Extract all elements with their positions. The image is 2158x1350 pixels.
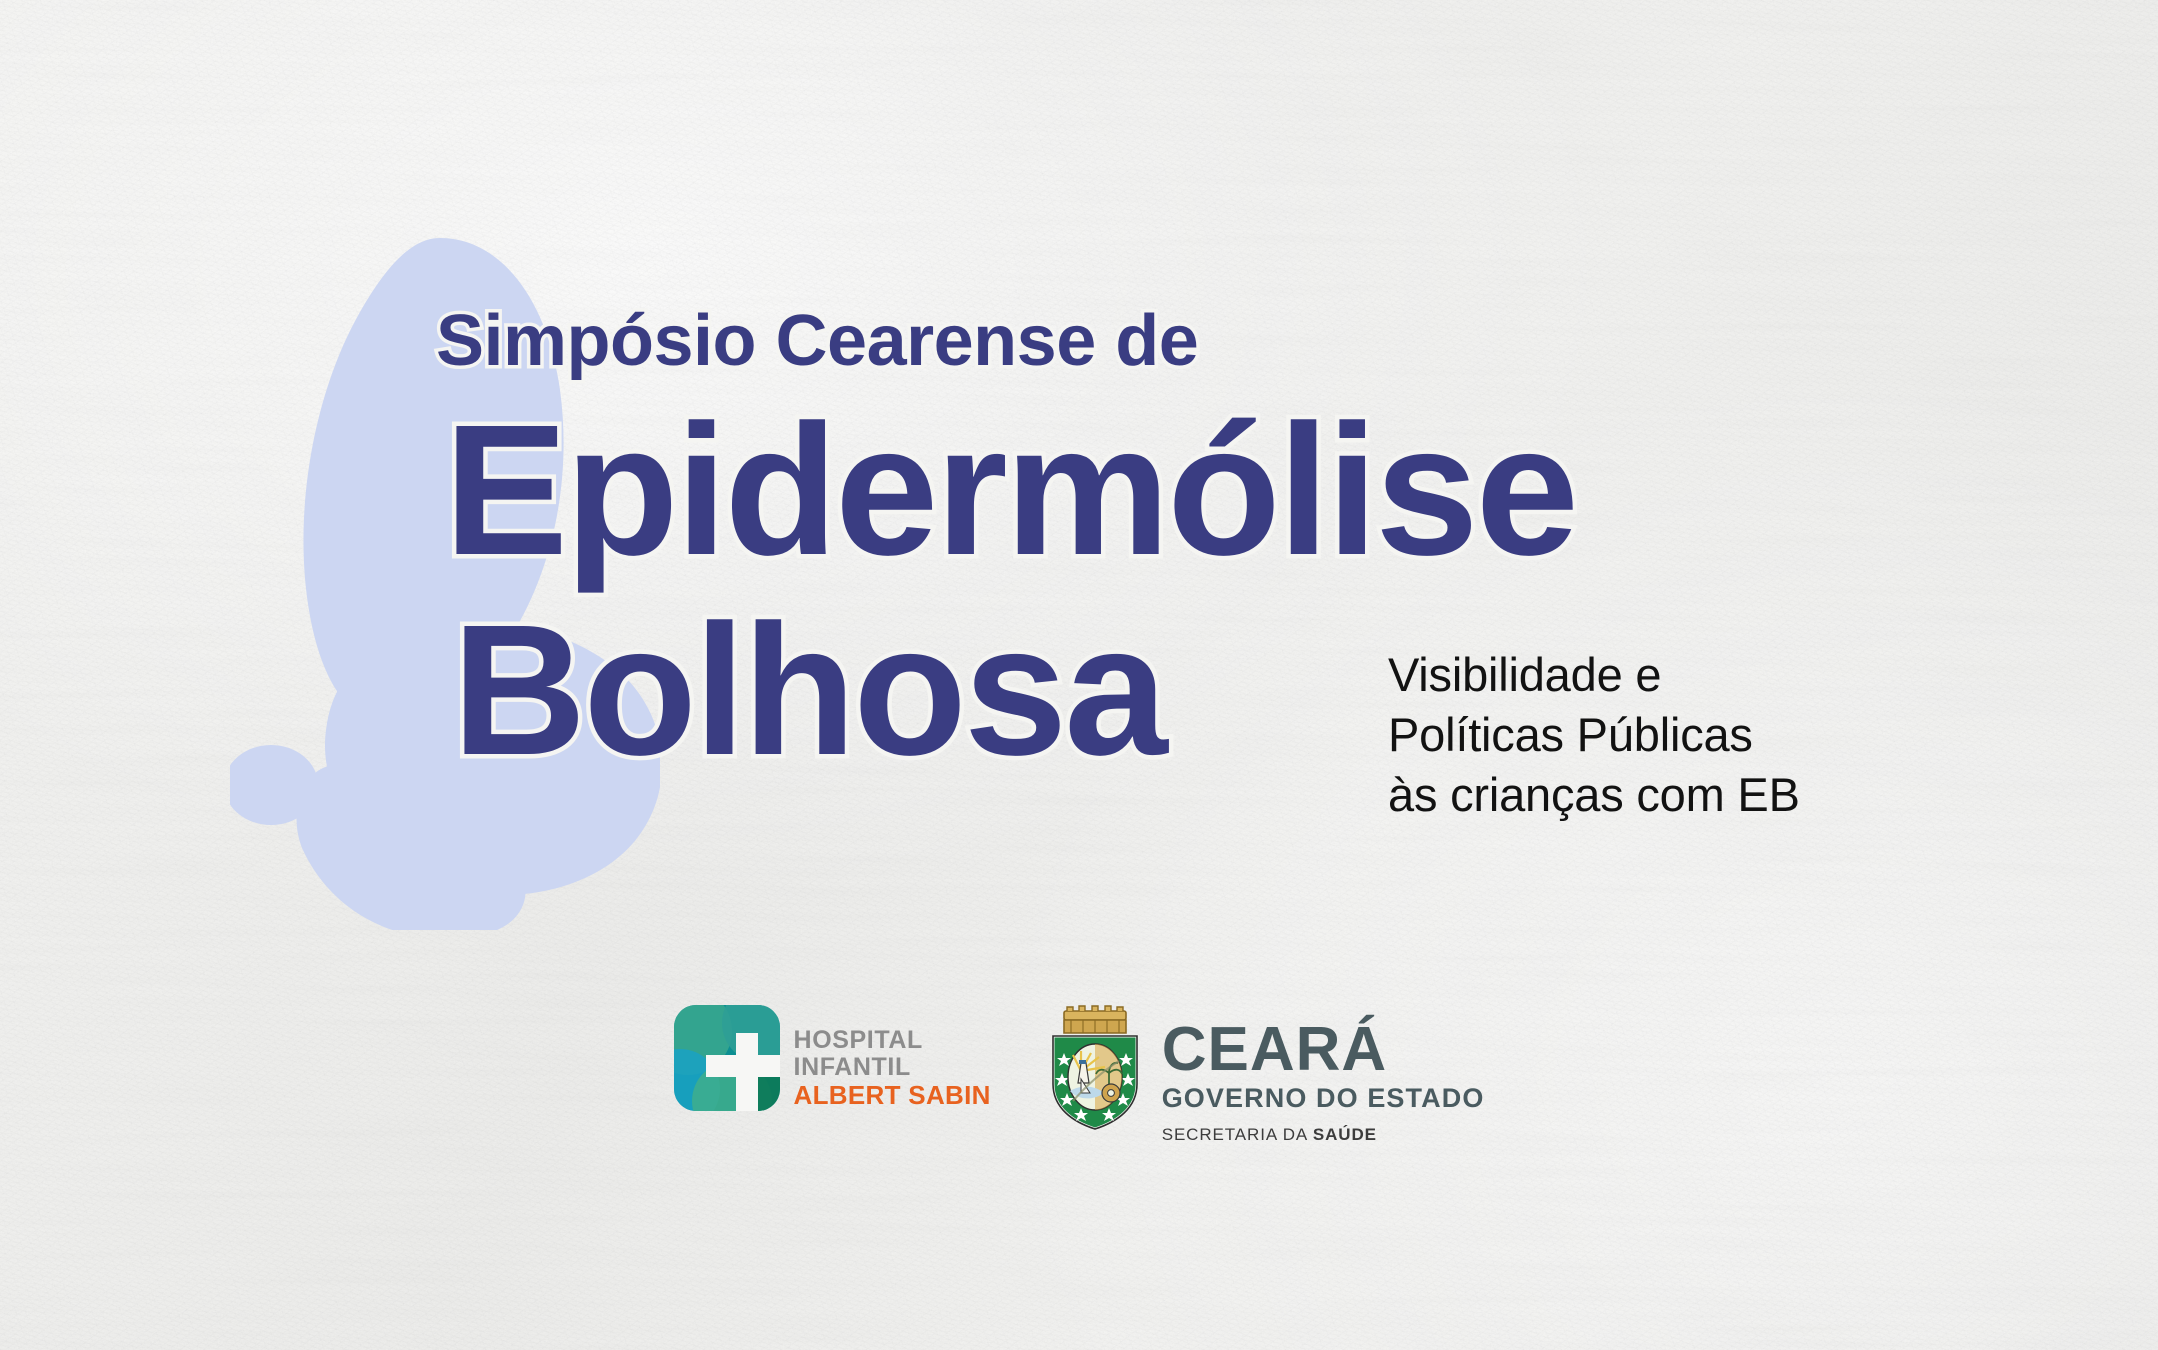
ceara-line-2: GOVERNO DO ESTADO [1162,1078,1485,1119]
hias-line-2: INFANTIL [794,1054,991,1081]
ceara-line-3-prefix: SECRETARIA DA [1162,1125,1313,1144]
ceara-line-1: CEARÁ [1162,1021,1485,1078]
logo-ceara-governo-do-estado: CEARÁ GOVERNO DO ESTADO SECRETARIA DA SA… [1043,1005,1485,1151]
teal-cross-icon [674,1005,780,1111]
ceara-line-3: SECRETARIA DA SAÚDE [1162,1119,1485,1151]
hias-line-1: HOSPITAL [794,1027,991,1054]
logo-strip: HOSPITAL INFANTIL ALBERT SABIN [0,1005,2158,1151]
poster-canvas: Simpósio Cearense de Epidermólise Bolhos… [0,0,2158,1350]
hias-wordmark: HOSPITAL INFANTIL ALBERT SABIN [794,1007,991,1109]
ceara-coat-of-arms-icon [1043,1005,1147,1131]
ceara-wordmark: CEARÁ GOVERNO DO ESTADO SECRETARIA DA SA… [1162,1005,1485,1151]
ceara-line-3-strong: SAÚDE [1313,1125,1377,1144]
hias-line-3: ALBERT SABIN [794,1081,991,1109]
logo-hospital-infantil-albert-sabin: HOSPITAL INFANTIL ALBERT SABIN [674,1005,991,1111]
